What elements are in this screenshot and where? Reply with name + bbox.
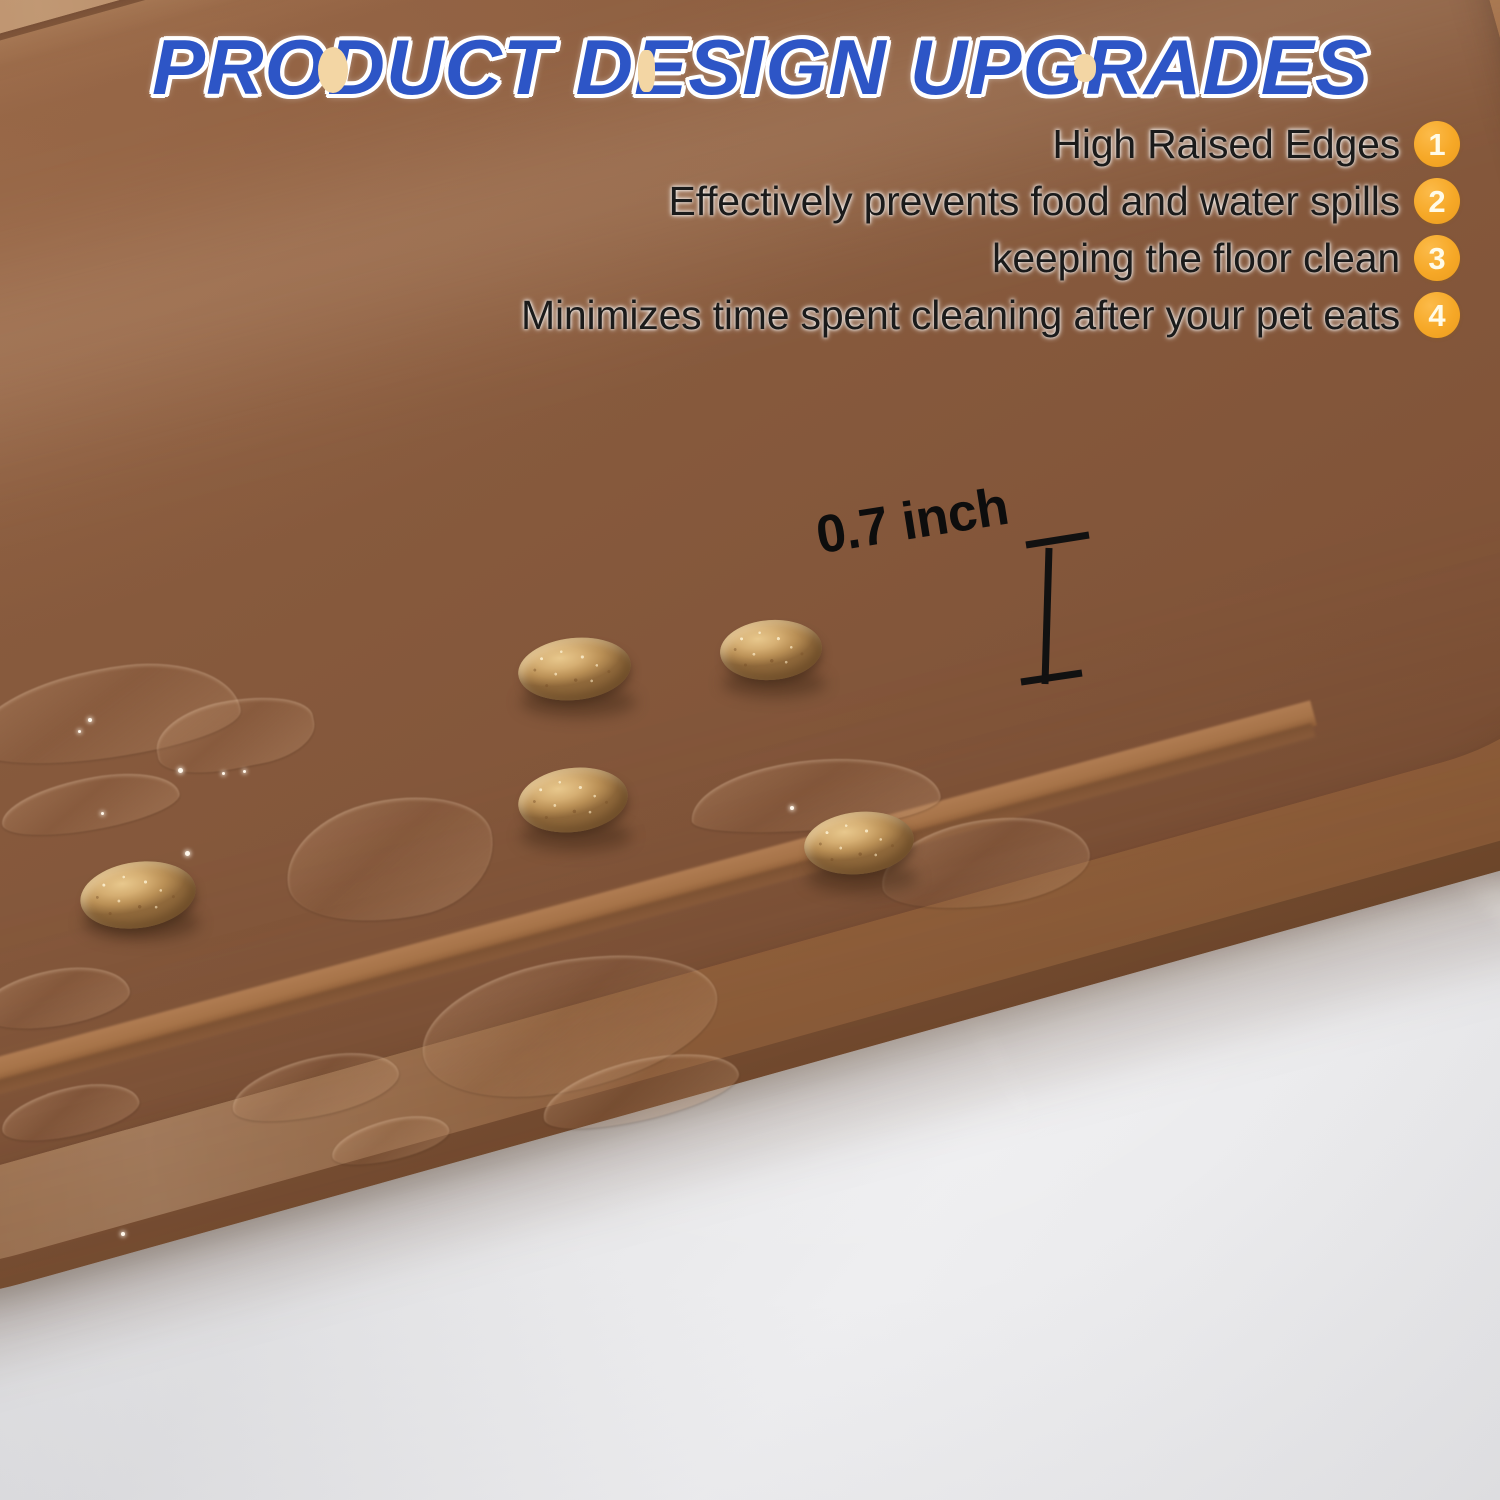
- feature-list-item: Minimizes time spent cleaning after your…: [521, 291, 1460, 339]
- water-highlight-speck: [222, 772, 225, 775]
- feature-number-badge: 1: [1414, 121, 1460, 167]
- feature-text: Effectively prevents food and water spil…: [668, 178, 1400, 225]
- feature-number-badge: 4: [1414, 292, 1460, 338]
- water-highlight-speck: [243, 770, 246, 773]
- water-highlight-speck: [121, 1232, 125, 1236]
- feature-number-badge: 3: [1414, 235, 1460, 281]
- feature-list-item: High Raised Edges 1: [1052, 120, 1460, 168]
- feature-list: High Raised Edges 1 Effectively prevents…: [0, 120, 1460, 339]
- water-highlight-speck: [790, 806, 794, 810]
- feature-text: High Raised Edges: [1052, 121, 1400, 168]
- product-marketing-image: 0.7 inch PRODUCT DESIGN UPGRADES High Ra…: [0, 0, 1500, 1500]
- feature-list-item: keeping the floor clean 3: [992, 234, 1460, 282]
- water-highlight-speck: [178, 768, 183, 773]
- feature-text: Minimizes time spent cleaning after your…: [521, 292, 1400, 339]
- feature-text: keeping the floor clean: [992, 235, 1400, 282]
- water-highlight-speck: [101, 812, 104, 815]
- feature-number-badge: 2: [1414, 178, 1460, 224]
- feature-list-item: Effectively prevents food and water spil…: [668, 177, 1460, 225]
- water-highlight-speck: [185, 851, 190, 856]
- water-highlight-speck: [88, 718, 92, 722]
- page-title: PRODUCT DESIGN UPGRADES: [152, 22, 1369, 113]
- water-highlight-speck: [78, 730, 81, 733]
